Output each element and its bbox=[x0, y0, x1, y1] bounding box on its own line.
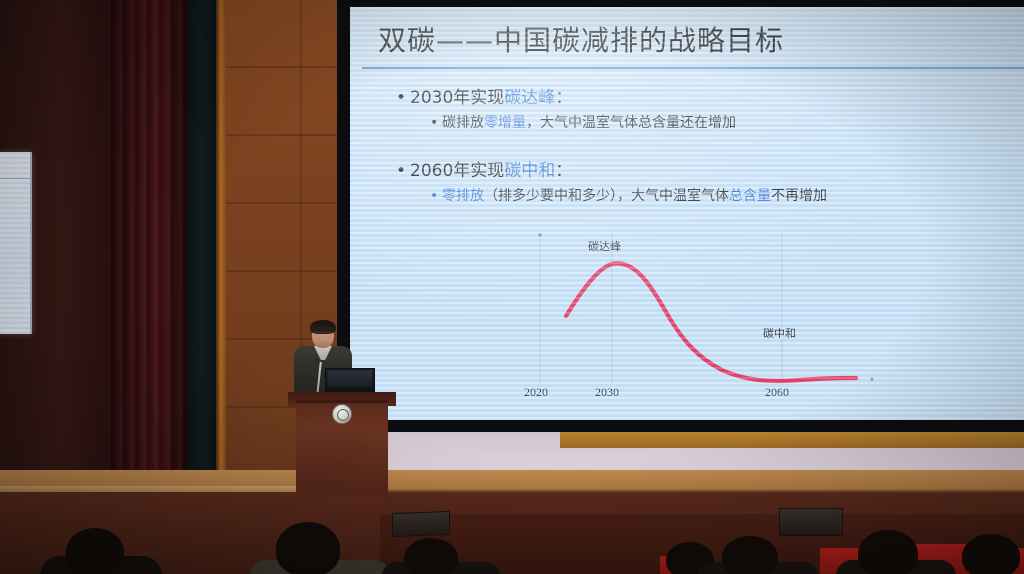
projection-screen-frame: 双碳——中国碳减排的战略目标 •2030年实现碳达峰： •碳排放零增量，大气中温… bbox=[337, 0, 1024, 432]
glasses-icon bbox=[313, 332, 333, 338]
bullet-marker-icon: • bbox=[430, 188, 442, 204]
audience-head bbox=[66, 528, 124, 574]
slide-bullet-list: •2030年实现碳达峰： •碳排放零增量，大气中温室气体总含量还在增加 •206… bbox=[396, 83, 1008, 215]
audience-head bbox=[858, 530, 918, 574]
stage-monitor-speaker-left bbox=[392, 511, 450, 537]
bullet-text-highlight: 零排放 bbox=[442, 188, 484, 204]
curve-svg bbox=[500, 232, 900, 412]
bullet-spacer bbox=[396, 142, 1008, 156]
audience-head bbox=[404, 538, 458, 574]
bullet-text-plain: 2030年实现 bbox=[410, 88, 504, 108]
bullet-text-plain: ： bbox=[555, 161, 572, 181]
bullet-text-plain: ，大气中温室气体总含量还在增加 bbox=[526, 115, 736, 131]
stage-curtain bbox=[108, 0, 194, 520]
presentation-slide: 双碳——中国碳减排的战略目标 •2030年实现碳达峰： •碳排放零增量，大气中温… bbox=[350, 7, 1024, 420]
carbon-emission-curve-chart: 碳达峰 碳中和 2020 2030 2060 bbox=[500, 232, 900, 412]
bullet-text-plain: ： bbox=[555, 88, 572, 108]
bullet-text-highlight: 碳中和 bbox=[504, 161, 555, 181]
audience-head bbox=[722, 536, 778, 574]
bullet-text-highlight: 碳达峰 bbox=[504, 88, 555, 108]
laptop-device bbox=[325, 368, 375, 394]
bullet-text-plain: 碳排放 bbox=[442, 115, 484, 131]
bullet-text-highlight: 零增量 bbox=[484, 115, 526, 131]
bullet-marker-icon: • bbox=[396, 161, 410, 181]
bullet-marker-icon: • bbox=[396, 88, 410, 108]
bullet-level1-item: •2030年实现碳达峰： bbox=[396, 83, 1008, 108]
emission-curve-path bbox=[566, 263, 856, 381]
axis-marker-top bbox=[538, 233, 541, 236]
xtick-2030: 2030 bbox=[595, 385, 619, 400]
bullet-text-plain: 不再增加 bbox=[771, 188, 827, 204]
side-display-rule bbox=[0, 178, 30, 179]
slide-title: 双碳——中国碳减排的战略目标 bbox=[378, 19, 784, 59]
bullet-level2-item: •碳排放零增量，大气中温室气体总含量还在增加 bbox=[430, 112, 1008, 132]
axis-marker-right bbox=[870, 377, 873, 380]
bullet-text-plain: （排多少要中和多少），大气中温室气体 bbox=[484, 188, 729, 204]
annotation-carbon-neutral: 碳中和 bbox=[763, 325, 796, 341]
stage-monitor-speaker-right bbox=[779, 508, 843, 536]
bullet-level1-item: •2060年实现碳中和： bbox=[396, 156, 1008, 181]
audience-head bbox=[962, 534, 1020, 574]
stage-skirt-trim bbox=[560, 432, 1024, 448]
annotation-carbon-peak: 碳达峰 bbox=[588, 238, 621, 254]
bullet-text-plain: 2060年实现 bbox=[410, 161, 504, 181]
bullet-level2-item: •零排放（排多少要中和多少），大气中温室气体总含量不再增加 bbox=[430, 185, 1008, 205]
xtick-2060: 2060 bbox=[765, 385, 789, 400]
audience-head bbox=[276, 522, 340, 574]
bullet-text-highlight: 总含量 bbox=[729, 188, 771, 204]
auditorium-scene: 双碳——中国碳减排的战略目标 •2030年实现碳达峰： •碳排放零增量，大气中温… bbox=[0, 0, 1024, 574]
title-divider bbox=[362, 67, 1024, 69]
side-display-screen bbox=[0, 152, 32, 334]
university-emblem-icon bbox=[332, 404, 352, 424]
bullet-marker-icon: • bbox=[430, 115, 442, 131]
xtick-2020: 2020 bbox=[524, 385, 548, 400]
